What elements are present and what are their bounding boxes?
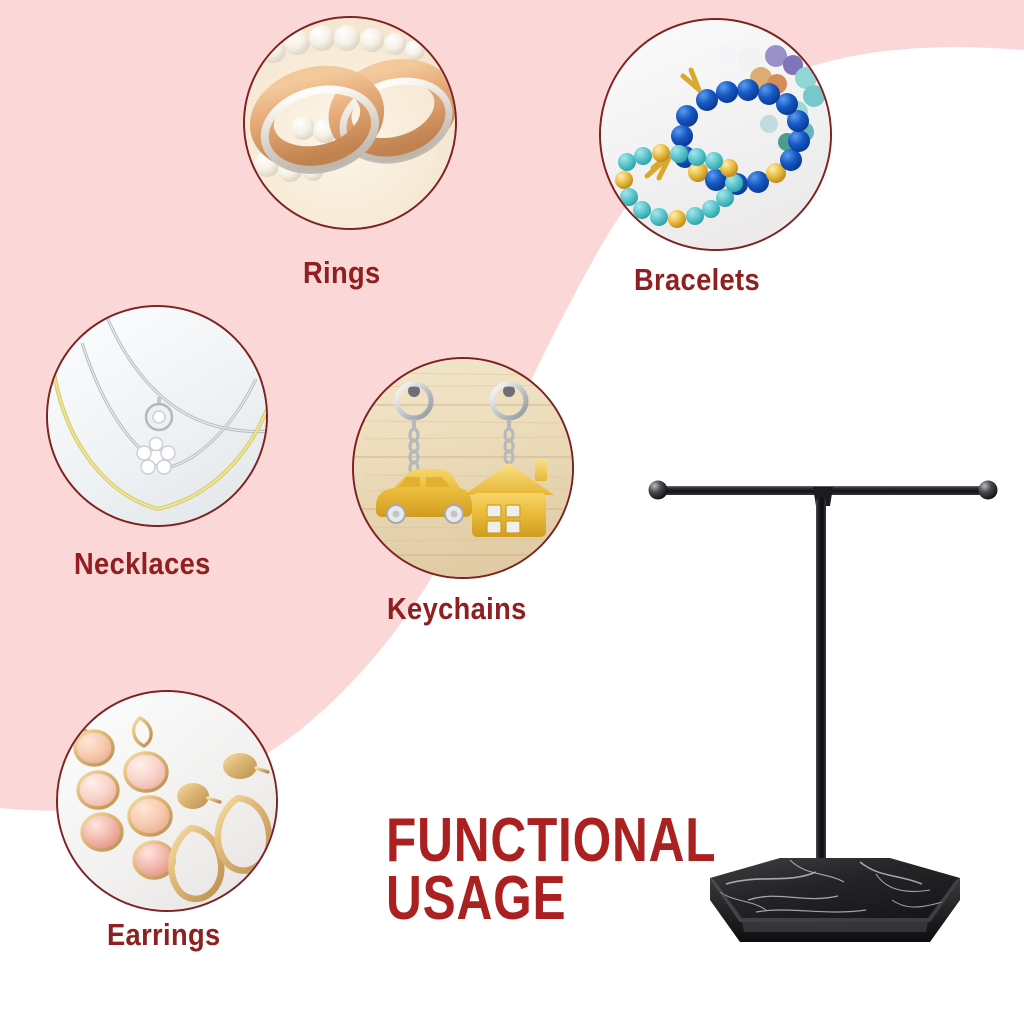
rings-photo <box>245 18 455 228</box>
finial-left-ball <box>649 481 668 500</box>
infographic-canvas: Rings <box>0 0 1024 1024</box>
label-keychains: Keychains <box>387 591 527 627</box>
bubble-earrings <box>56 690 278 912</box>
bracelets-photo <box>601 20 830 249</box>
earrings-photo <box>58 692 276 910</box>
label-earrings: Earrings <box>107 917 221 953</box>
post <box>816 498 826 892</box>
bubble-bracelets <box>599 18 832 251</box>
bubble-rings <box>243 16 457 230</box>
label-bracelets: Bracelets <box>634 262 760 298</box>
label-rings: Rings <box>303 255 381 291</box>
bubble-keychains <box>352 357 574 579</box>
jewelry-stand <box>630 460 1020 1000</box>
base <box>710 858 960 942</box>
label-necklaces: Necklaces <box>74 546 211 582</box>
keychains-photo <box>354 359 572 577</box>
bubble-necklaces <box>46 305 268 527</box>
necklaces-photo <box>48 307 266 525</box>
finial-right-ball <box>979 481 998 500</box>
